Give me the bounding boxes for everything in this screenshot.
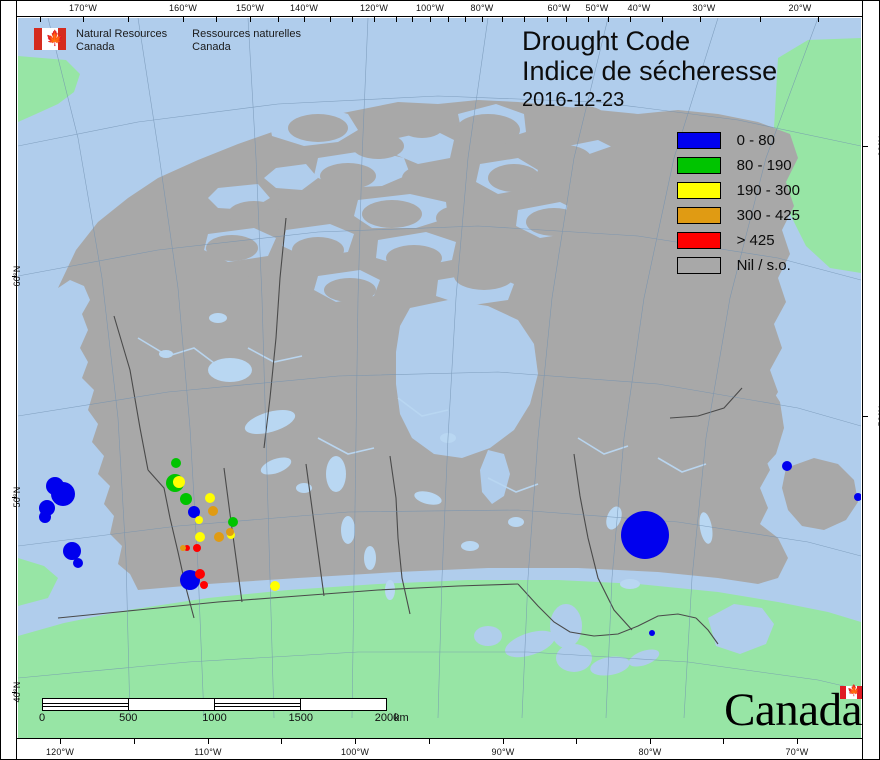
map-page: 170°W160°W150°W140°W120°W100°W80°W60°W50…	[0, 0, 880, 760]
map-frame	[0, 0, 880, 760]
